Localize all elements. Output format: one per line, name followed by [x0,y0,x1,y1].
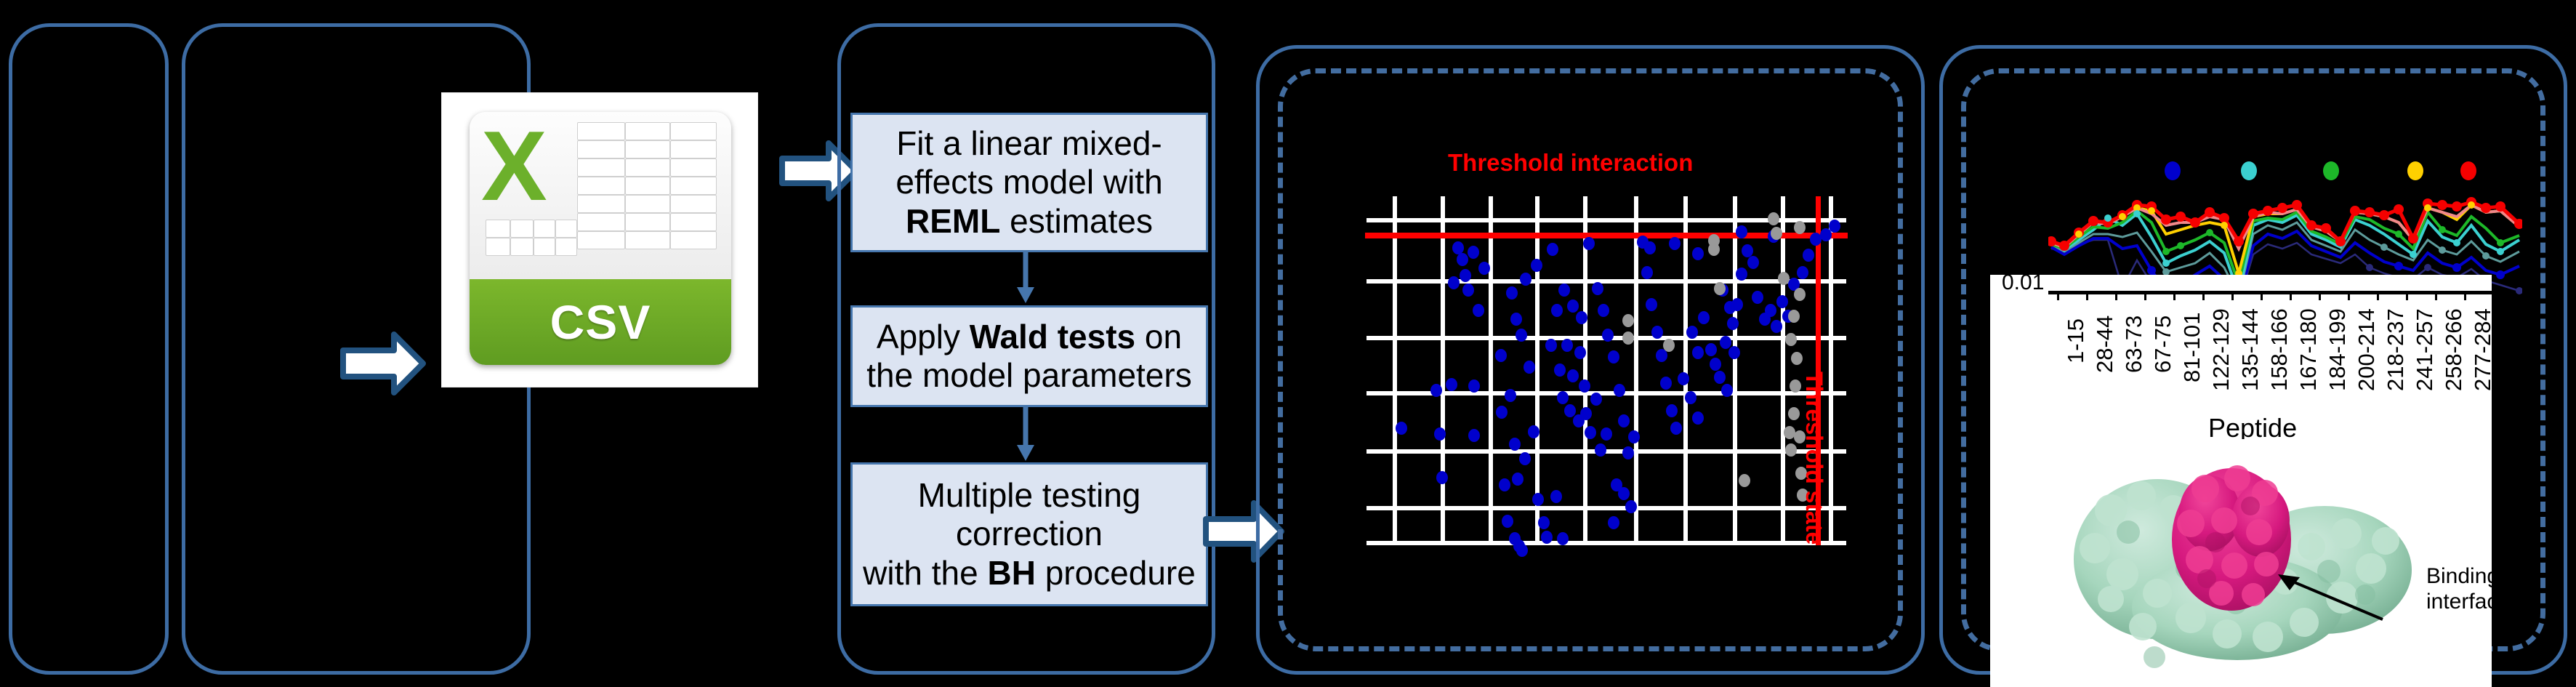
scatter-point-grey [1768,212,1779,225]
scatter-point [1473,304,1484,317]
scatter-point [1710,358,1721,371]
scatter-point [1550,490,1562,503]
scatter-point [1736,268,1747,281]
peptide-tick-label: 277-284 [2470,308,2492,391]
bh-line-2: correction [956,515,1103,553]
scatter-point [1644,241,1656,254]
scatter-point [1641,266,1653,279]
scatter-point [1557,391,1569,404]
scatter-point [1618,414,1630,427]
scatter-point-grey [1790,379,1801,393]
binding-interface-label: Binding interface [2426,564,2492,614]
scatter-point [1731,298,1743,311]
bh-line-3-tail: procedure [1036,554,1196,592]
scatter-point-grey [1785,443,1797,457]
peptide-tick-label: 1-15 [2063,318,2089,363]
peptide-tick [2173,291,2175,300]
reml-line-2: effects model with [895,163,1162,201]
scatter-point [1797,266,1808,279]
grid-v-10 [1829,196,1833,545]
scatter-point [1803,249,1814,262]
scatter-plot-area [1367,196,1846,545]
scatter-point [1583,237,1595,250]
scatter-point [1736,225,1747,238]
scatter-point [1468,246,1479,259]
scatter-point [1532,493,1544,506]
csv-grid-main [577,122,717,265]
reml-line-3-tail: estimates [1000,202,1153,240]
scatter-point [1685,391,1696,404]
scatter-point [1551,304,1563,317]
scatter-point-grey [1788,310,1800,323]
bh-line-3-head: with the [863,554,987,592]
connector-wald-to-bh [1022,407,1029,461]
peptide-tick [2290,291,2292,300]
bh-line-1: Multiple testing [918,476,1141,514]
scatter-point [1618,487,1630,500]
peptide-tick-label: 184-199 [2325,308,2351,391]
scatter-point-grey [1739,474,1750,487]
scatter-point [1720,336,1731,349]
binding-interface-line-1: Binding [2426,564,2492,590]
scatter-point [1499,478,1510,491]
scatter-point [1509,438,1521,451]
scatter-point [1608,350,1619,363]
peptide-tick [2202,291,2205,300]
scatter-point [1516,544,1528,557]
peptide-tick-label: 81-101 [2179,312,2205,382]
legend-dot-timepoint-3 [2323,161,2339,180]
flow-box-wald: Apply Wald tests on the model parameters [850,305,1208,407]
scatter-point [1396,422,1407,435]
scatter-point [1558,284,1570,297]
peptide-tick [2464,291,2466,300]
scatter-point [1574,346,1586,359]
scatter-point [1728,346,1740,359]
scatter-point [1651,326,1663,339]
grid-h-2 [1367,279,1846,284]
peptide-tick [2406,291,2408,300]
scatter-point-grey [1708,243,1720,256]
grid-v-6 [1634,196,1638,545]
scatter-point [1579,379,1590,393]
scatter-point [1698,311,1710,324]
wald-line-2: the model parameters [866,356,1191,394]
grid-v-2 [1441,196,1445,545]
legend-dot-timepoint-2 [2241,161,2257,180]
scatter-point [1598,304,1609,317]
peptide-tick [2319,291,2321,300]
scatter-point [1765,304,1776,317]
scatter-point-grey [1788,407,1800,420]
peptide-tick [2261,291,2263,300]
scatter-point [1468,429,1480,442]
reml-keyword: REML [906,202,1000,240]
scatter-point-grey [1785,333,1797,346]
peptide-y-tick-label: 0.01 [2002,275,2044,295]
scatter-point [1519,452,1531,465]
scatter-point [1554,363,1566,377]
scatter-point [1495,349,1507,362]
flow-box-bh: Multiple testing correction with the BH … [850,462,1208,606]
grid-v-8 [1733,196,1737,545]
scatter-point [1468,379,1480,393]
scatter-point [1601,427,1612,441]
grid-h-5 [1367,449,1846,454]
peptide-tick [2348,291,2350,300]
scatter-point-grey [1791,352,1803,365]
scatter-point [1666,404,1678,417]
scatter-point [1496,406,1508,419]
peptide-tick-label: 28-44 [2092,316,2118,373]
scatter-point [1678,372,1689,385]
scatter-point [1614,384,1625,397]
scatter-point [1457,253,1468,266]
scatter-point [1462,284,1474,297]
scatter-point-grey [1794,221,1806,234]
scatter-point [1686,326,1698,339]
scatter-point-grey [1778,272,1790,285]
peptide-tick [2144,291,2146,300]
scatter-point [1561,339,1573,352]
csv-grid-secondary [486,220,577,265]
peptide-tick [2435,291,2437,300]
scatter-point [1592,282,1603,295]
scatter-point [1502,515,1513,528]
scatter-point [1434,427,1446,441]
peptide-tick-label: 167-180 [2295,308,2322,391]
scatter-point-grey [1714,282,1726,295]
csv-icon-card: X CSV [442,93,757,387]
scatter-point [1721,384,1733,397]
scatter-point [1829,220,1840,233]
scatter-point [1567,300,1579,313]
grid-v-9 [1781,196,1785,545]
legend-dot-timepoint-4 [2407,161,2423,180]
csv-icon-sheet: X [470,112,731,279]
scatter-point [1669,237,1681,250]
scatter-point [1692,346,1704,359]
scatter-point [1776,295,1788,308]
peptide-tick-label: 135-144 [2237,308,2263,391]
scatter-point [1448,276,1460,289]
scatter-point-grey [1622,314,1634,327]
grid-v-1 [1393,196,1397,545]
scatter-point [1771,320,1782,333]
scatter-point [1564,404,1576,417]
scatter-point [1727,317,1739,330]
grid-v-3 [1489,196,1493,545]
protein-surface-svg [2041,439,2448,679]
volcano-scatter-chart: Threshold interaction [1352,156,1861,563]
scatter-point [1602,329,1614,342]
scatter-point [1625,500,1637,513]
scatter-point [1705,343,1717,356]
scatter-point [1747,256,1759,269]
scatter-point [1460,269,1471,282]
scatter-point [1510,313,1522,326]
grid-h-6 [1367,506,1846,510]
peptide-tick-label: 200-214 [2354,308,2380,391]
peptide-tick-label: 158-166 [2266,308,2293,391]
peptide-tick-label: 122-129 [2208,308,2234,391]
scatter-point [1660,377,1672,390]
csv-icon-band: CSV [470,279,731,365]
scatter-point [1646,298,1657,311]
scatter-point [1576,311,1587,324]
peptide-tick-label: 218-237 [2383,308,2409,391]
excel-x-letter: X [481,116,546,215]
protein-binding-interface-figure [2041,439,2448,679]
scatter-point [1506,286,1518,300]
peptide-tick-label: 67-75 [2150,316,2176,373]
peptide-tick-label: 63-73 [2121,316,2147,373]
scatter-point [1524,361,1535,374]
threshold-state-label: Threshold state [1800,371,1827,545]
scatter-point-grey [1794,288,1806,301]
scatter-point [1531,259,1542,272]
scatter-point [1446,378,1457,391]
panel-empty-input [9,23,169,675]
scatter-point [1512,473,1524,486]
scatter-point [1608,516,1619,529]
legend-dot-timepoint-5 [2460,161,2476,180]
peptide-tick [2086,291,2088,300]
peptide-tick-label: 241-257 [2412,308,2438,391]
csv-file-icon: X CSV [470,112,731,365]
wald-keyword: Wald tests [970,318,1135,355]
grid-v-7 [1683,196,1688,545]
scatter-point [1505,389,1516,402]
scatter-point [1541,531,1553,544]
scatter-point [1590,393,1602,406]
wald-line-1-tail: on [1135,318,1182,355]
peptide-tick [2377,291,2379,300]
scatter-point [1557,532,1569,545]
scatter-point [1670,422,1682,435]
peptide-tick [2115,291,2117,300]
legend-dot-timepoint-1 [2165,161,2181,180]
scatter-point [1585,426,1596,439]
peptide-tick [2231,291,2234,300]
scatter-point [1516,329,1527,342]
scatter-point [1752,291,1763,304]
figure-canvas: X CSV Fit a linear mixed- effects model … [0,0,2576,687]
scatter-point [1595,443,1606,457]
scatter-point [1692,411,1704,425]
scatter-point [1538,516,1550,529]
scatter-point [1430,384,1442,397]
peptide-axis-panel: 0.01 1-15 28-44 63-73 67-75 81-101 122-1… [1990,275,2492,687]
grid-h-7 [1367,541,1846,545]
peptide-tick-label: 258-266 [2441,308,2467,391]
connector-reml-to-wald [1022,252,1029,303]
scatter-point [1545,339,1557,352]
scatter-point [1436,471,1448,484]
scatter-point [1528,425,1539,438]
csv-icon-label: CSV [550,294,651,350]
scatter-point [1628,430,1640,443]
scatter-point [1520,273,1531,286]
threshold-interaction-label: Threshold interaction [1448,149,1693,177]
scatter-point [1622,446,1634,459]
scatter-point [1580,407,1592,420]
peptide-tick [2057,291,2059,300]
scatter-point [1547,243,1558,256]
scatter-point-grey [1771,227,1782,240]
bh-keyword: BH [987,554,1035,592]
scatter-point [1478,262,1490,275]
binding-interface-line-2: interface [2426,590,2492,615]
scatter-point [1714,371,1726,384]
scatter-point-grey [1622,332,1634,345]
scatter-point [1567,369,1579,382]
flow-box-reml: Fit a linear mixed- effects model with R… [850,113,1208,252]
scatter-point [1692,247,1704,260]
scatter-point-grey [1663,339,1675,352]
reml-line-1: Fit a linear mixed- [896,124,1162,162]
wald-line-1-head: Apply [877,318,970,355]
